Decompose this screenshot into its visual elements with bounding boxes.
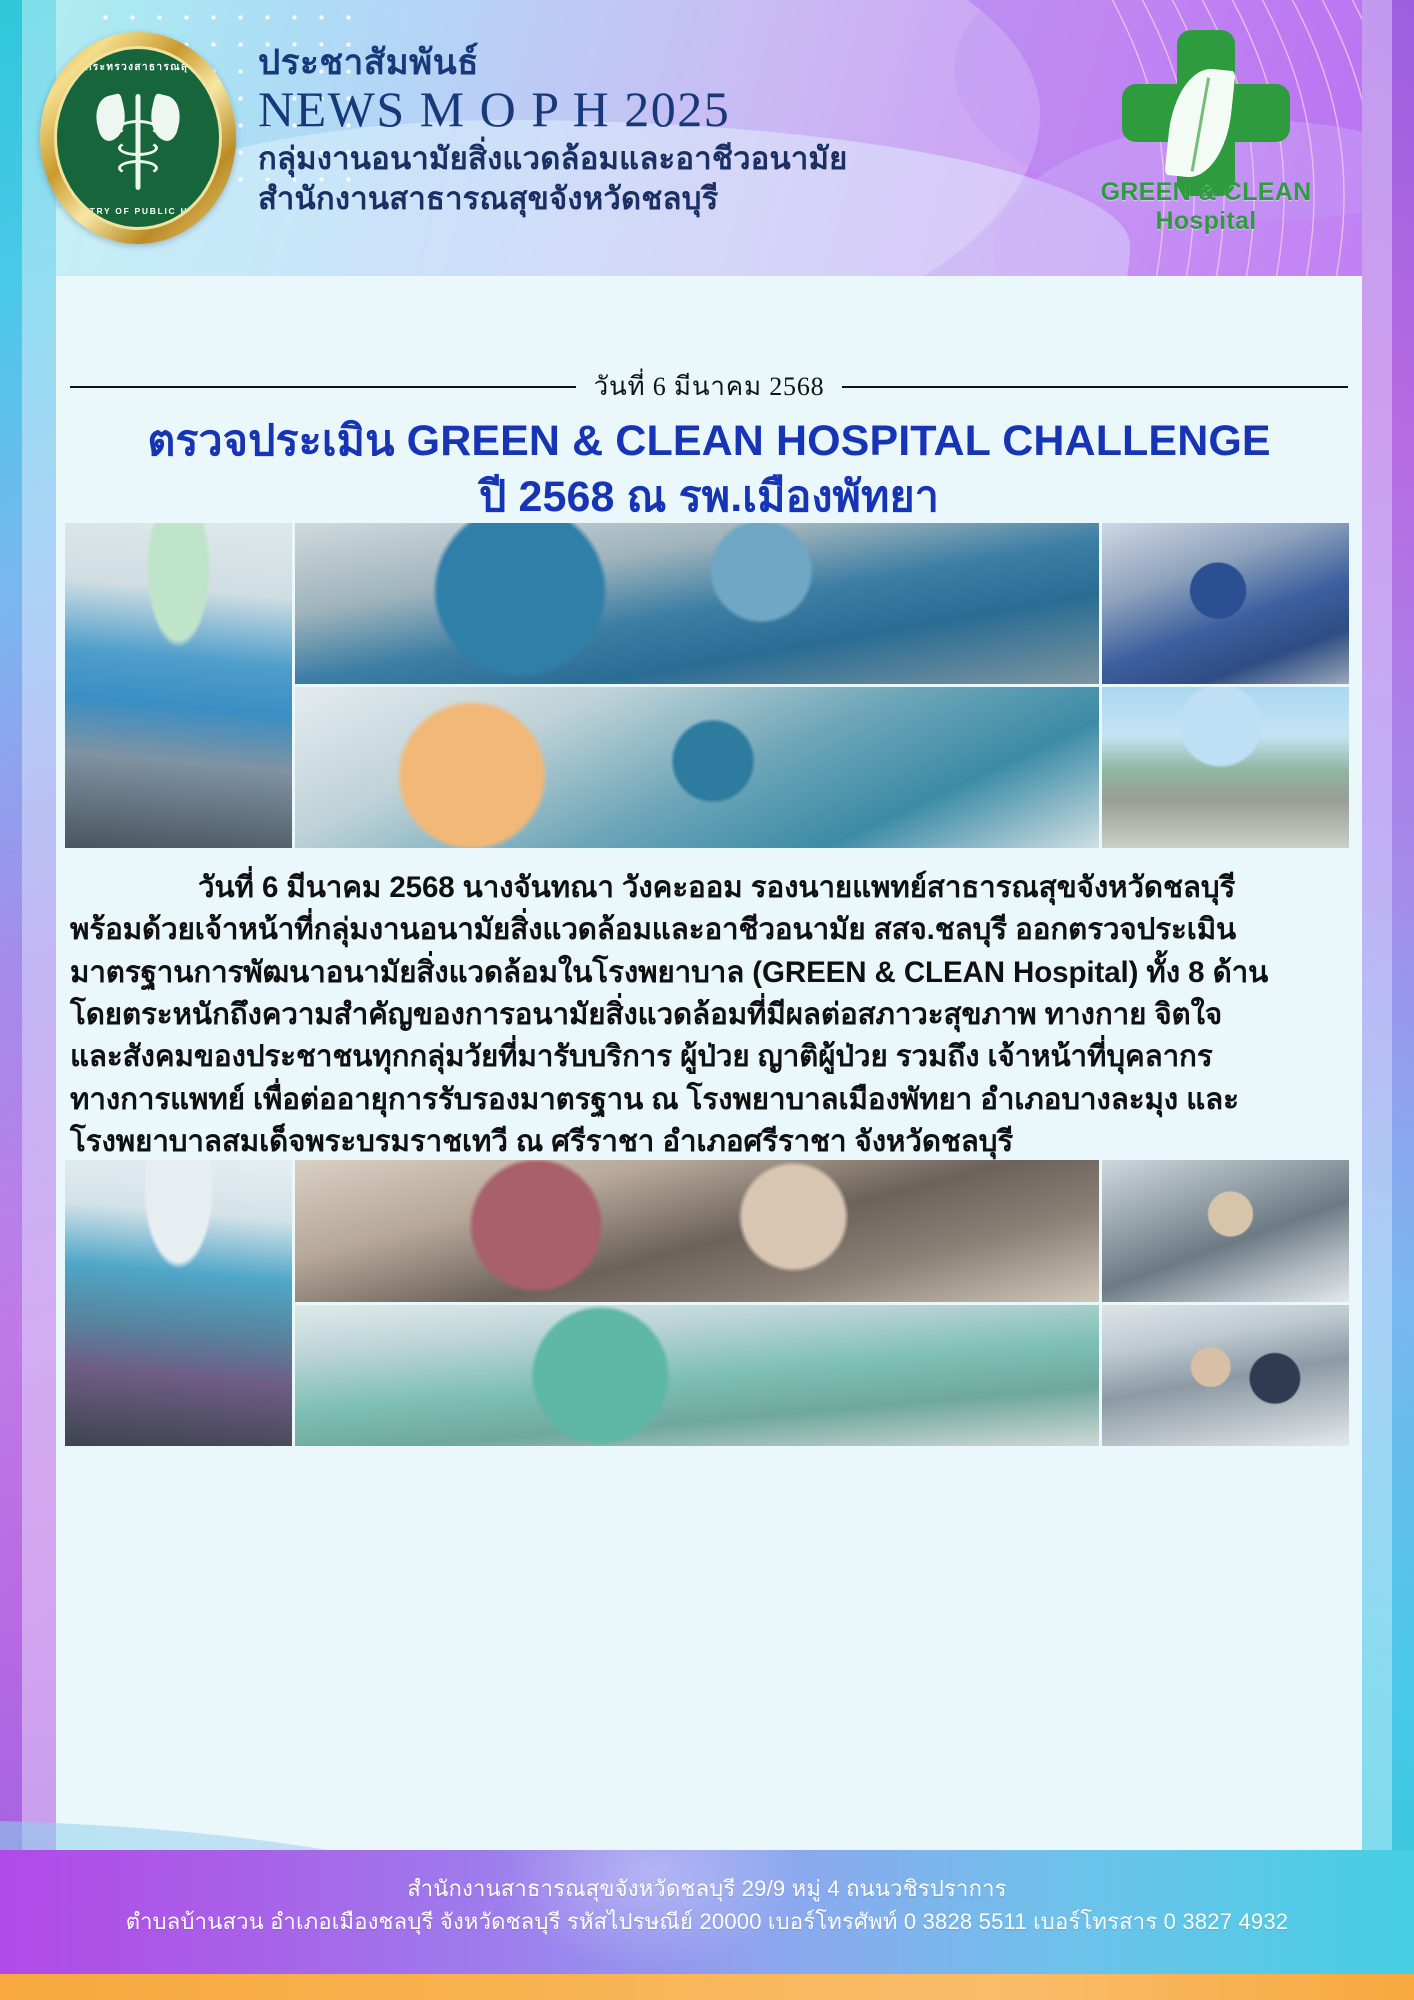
- footer-address: สำนักงานสาธารณสุขจังหวัดชลบุรี 29/9 หมู่…: [0, 1850, 1414, 1939]
- photo-committee-meeting-boardroom: [295, 1160, 1099, 1302]
- header-line-office: สำนักงานสาธารณสุขจังหวัดชลบุรี: [258, 179, 848, 219]
- header-line-prachasamphan: ประชาสัมพันธ์: [258, 42, 848, 83]
- paragraph-line-1: วันที่ 6 มีนาคม 2568 นางจันทณา วังคะออม …: [70, 867, 1348, 909]
- photo-male-doctor-presenting: [1102, 1160, 1349, 1302]
- caduceus-icon: [96, 86, 180, 190]
- paragraph-line-7: โรงพยาบาลสมเด็จพระบรมราชเทวี ณ ศรีราชา อ…: [70, 1121, 1348, 1163]
- body-paragraph: วันที่ 6 มีนาคม 2568 นางจันทณา วังคะออม …: [70, 867, 1348, 1163]
- photo-collage-top: [65, 523, 1349, 848]
- paragraph-line-5: และสังคมของประชาชนทุกกลุ่มวัยที่มารับบริ…: [70, 1036, 1348, 1078]
- photo-staff-at-desk-computer: [1102, 1305, 1349, 1447]
- frame-bottom-orange-strip: [0, 1974, 1414, 2000]
- photo-group-hospital-staff-auditorium: [65, 523, 292, 848]
- paragraph-line-6: ทางการแพทย์ เพื่อต่ออายุการรับรองมาตรฐาน…: [70, 1079, 1348, 1121]
- photo-meeting-officials-reviewing-documents: [295, 523, 1099, 684]
- seal-ring-text-top: กระทรวงสาธารณสุข: [57, 60, 222, 75]
- header-title-group: ประชาสัมพันธ์ NEWS M O P H 2025 กลุ่มงาน…: [258, 42, 848, 219]
- main-content: วันที่ 6 มีนาคม 2568 ตรวจประเมิน GREEN &…: [56, 276, 1362, 1876]
- frame-left-inner-border: [22, 0, 56, 2000]
- photo-meeting-room-staff-table: [295, 687, 1099, 848]
- seal-ring-text-bottom: MINISTRY OF PUBLIC HEALTH: [57, 206, 222, 216]
- poster-page: กระทรวงสาธารณสุข MINISTRY OF PUBLIC HEAL…: [0, 0, 1414, 2000]
- header-line-news-moph: NEWS M O P H 2025: [258, 81, 848, 137]
- photo-group-staff-nursing-department: [65, 1160, 292, 1446]
- page-title-line-2: ปี 2568 ณ รพ.เมืองพัทยา: [56, 470, 1362, 526]
- photo-outdoor-hospital-walkthrough: [1102, 687, 1349, 848]
- green-cross-leaf-icon: [1122, 30, 1290, 196]
- date-row: วันที่ 6 มีนาคม 2568: [70, 366, 1348, 407]
- ministry-of-public-health-seal-icon: กระทรวงสาธารณสุข MINISTRY OF PUBLIC HEAL…: [40, 32, 236, 244]
- footer-address-line-2: ตำบลบ้านสวน อำเภอเมืองชลบุรี จังหวัดชลบุ…: [0, 1905, 1414, 1938]
- footer-address-line-1: สำนักงานสาธารณสุขจังหวัดชลบุรี 29/9 หมู่…: [0, 1872, 1414, 1905]
- paragraph-line-3: มาตรฐานการพัฒนาอนามัยสิ่งแวดล้อมในโรงพยา…: [70, 952, 1348, 994]
- footer-banner: สำนักงานสาธารณสุขจังหวัดชลบุรี 29/9 หมู่…: [0, 1850, 1414, 1974]
- photo-woman-speaking-microphone: [1102, 523, 1349, 684]
- photo-staff-corridor-inspection: [295, 1305, 1099, 1447]
- date-rule-left: [70, 386, 576, 388]
- green-clean-hospital-logo: GREEN & CLEAN Hospital: [1056, 26, 1356, 238]
- frame-right-inner-border: [1362, 0, 1392, 2000]
- green-clean-hospital-caption: GREEN & CLEAN Hospital: [1056, 178, 1356, 236]
- date-text: วันที่ 6 มีนาคม 2568: [594, 366, 825, 407]
- page-title-line-1: ตรวจประเมิน GREEN & CLEAN HOSPITAL CHALL…: [56, 414, 1362, 470]
- paragraph-line-4: โดยตระหนักถึงความสำคัญของการอนามัยสิ่งแว…: [70, 994, 1348, 1036]
- photo-collage-bottom: [65, 1160, 1349, 1446]
- header-line-division: กลุ่มงานอนามัยสิ่งแวดล้อมและอาชีวอนามัย: [258, 139, 848, 179]
- date-rule-right: [842, 386, 1348, 388]
- paragraph-line-2: พร้อมด้วยเจ้าหน้าที่กลุ่มงานอนามัยสิ่งแว…: [70, 909, 1348, 951]
